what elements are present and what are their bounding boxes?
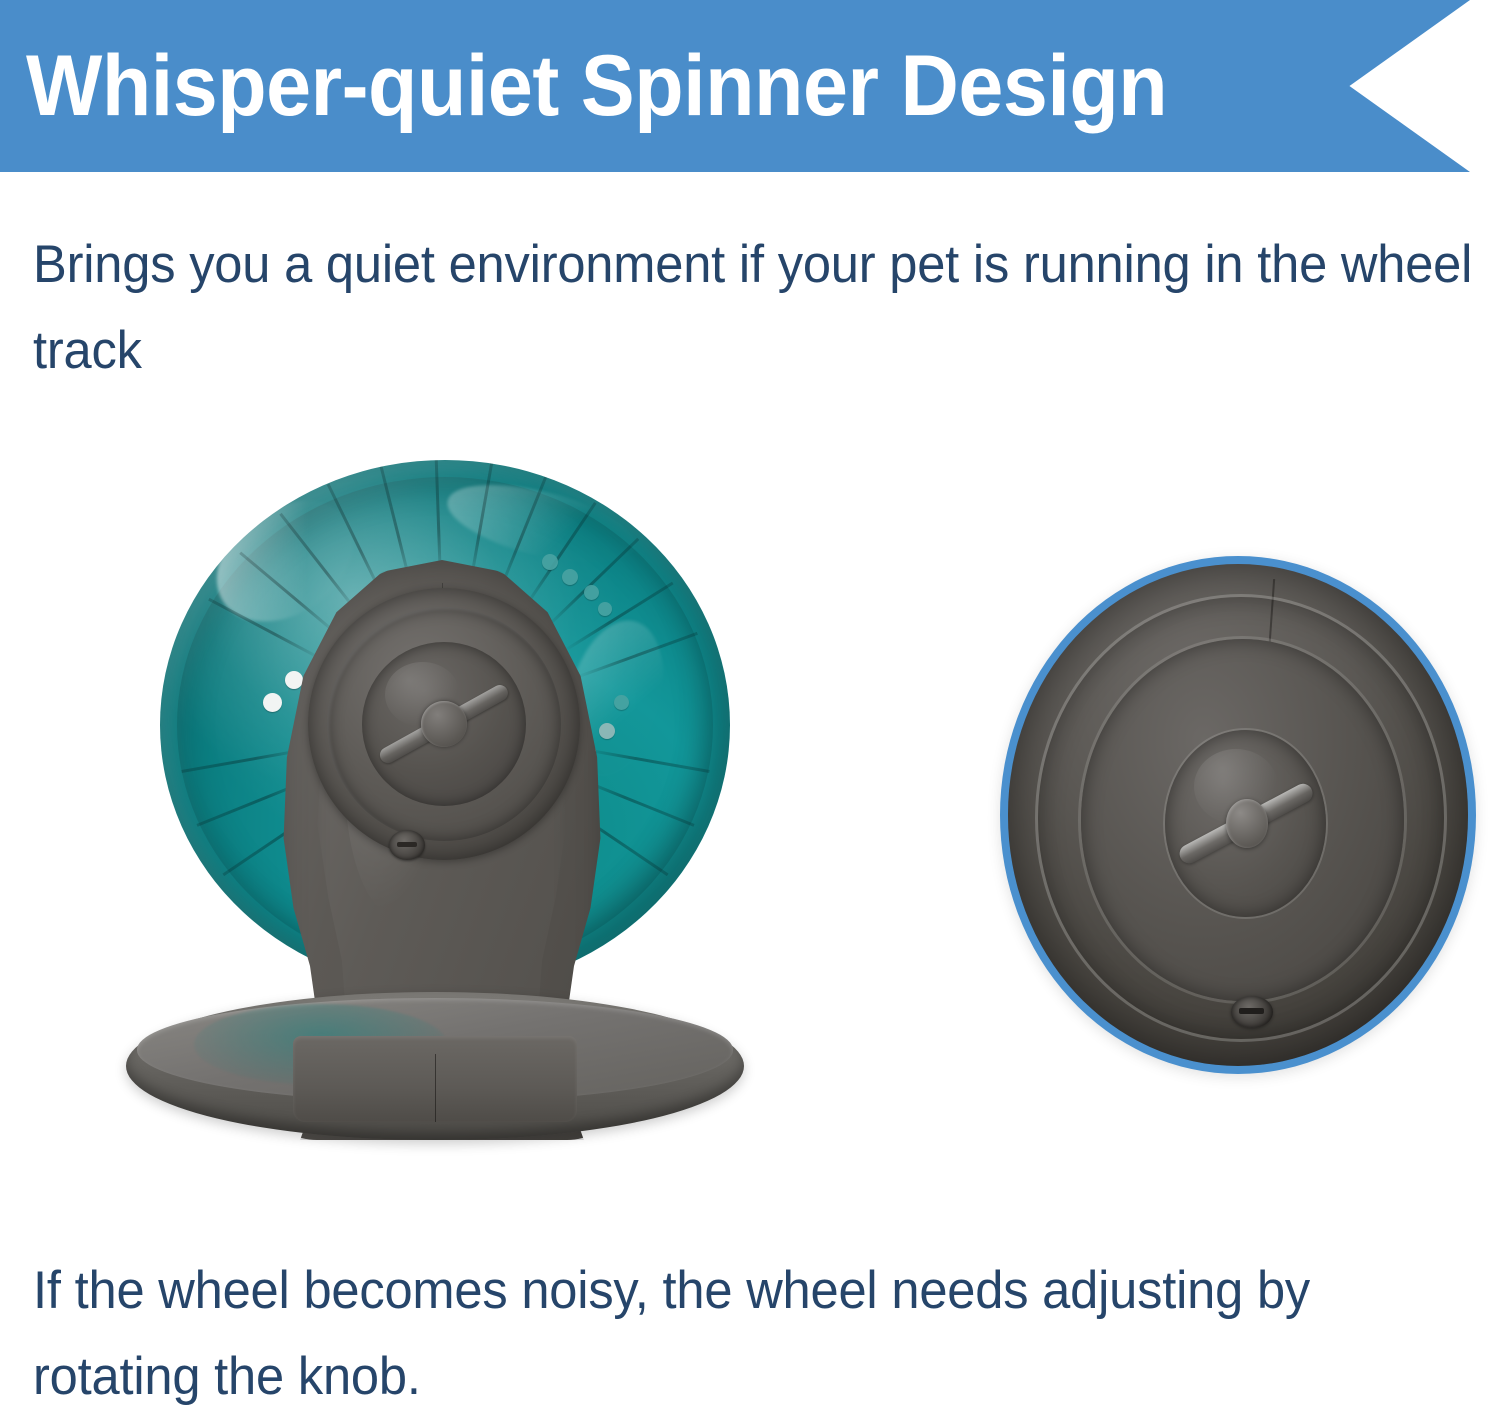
intro-paragraph: Brings you a quiet environment if your p…: [33, 222, 1485, 394]
knob-detail-inset: [1000, 556, 1476, 1074]
knob-center-hub: [421, 701, 467, 747]
inset-knob-center-hub: [1226, 799, 1268, 848]
inset-knob-photo: [1008, 564, 1469, 1065]
infographic-page: Whisper-quiet Spinner Design Brings you …: [0, 0, 1500, 1418]
stand-base-plate: [126, 992, 744, 1140]
page-title: Whisper-quiet Spinner Design: [26, 19, 1248, 153]
knob-face: [362, 642, 526, 806]
knob-outer-ring: [327, 607, 561, 841]
inset-screw: [1231, 996, 1273, 1028]
inset-mid-bezel: [1081, 639, 1404, 1000]
stand-screw: [389, 830, 425, 860]
spinner-knob: [308, 588, 580, 860]
vent-hole: [598, 602, 612, 616]
instruction-paragraph: If the wheel becomes noisy, the wheel ne…: [33, 1248, 1485, 1418]
vent-hole: [263, 693, 282, 712]
inset-knob-face: [1165, 730, 1326, 918]
vent-hole: [614, 695, 629, 710]
base-seam: [435, 1054, 436, 1122]
vent-hole: [599, 723, 615, 739]
product-photo: [110, 440, 770, 1180]
